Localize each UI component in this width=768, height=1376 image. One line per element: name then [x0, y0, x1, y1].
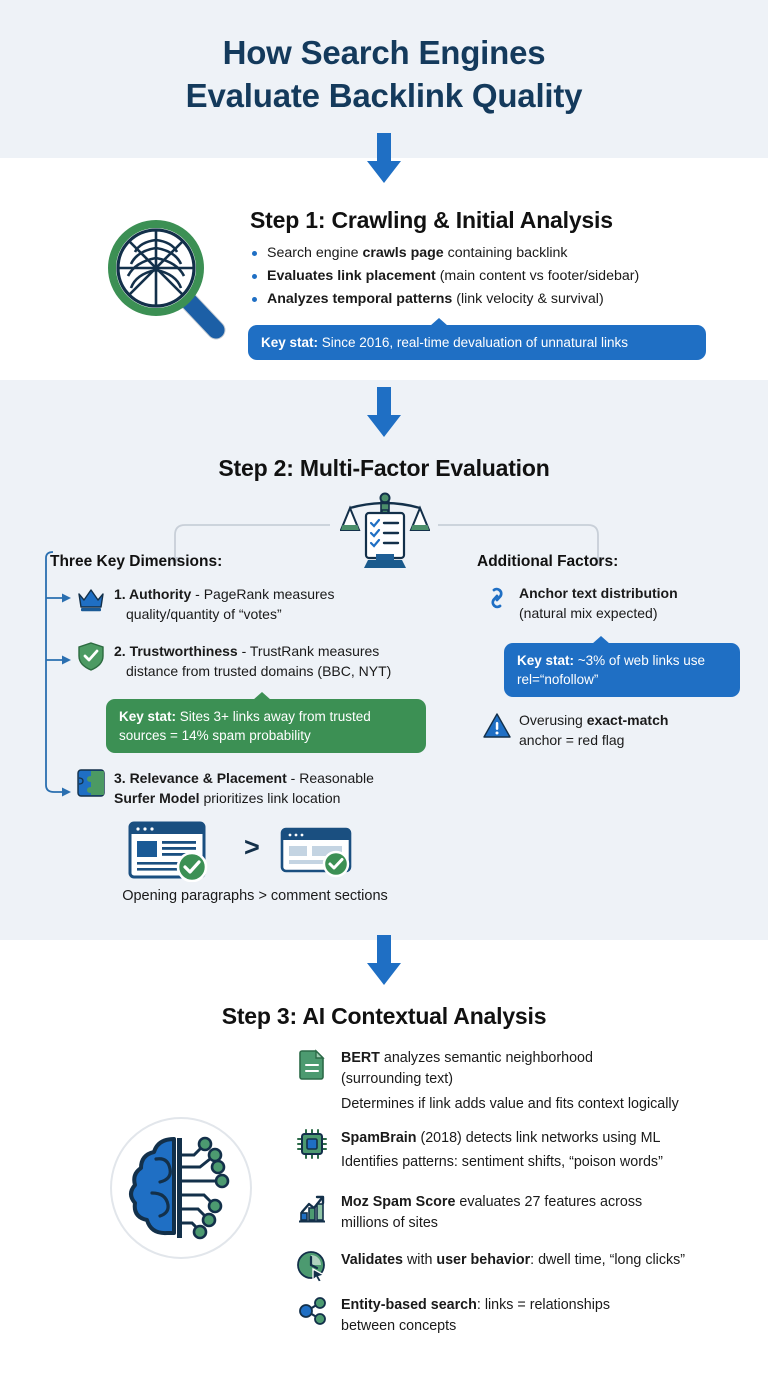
key-stat-label: Key stat: — [517, 653, 574, 668]
comparison-operator: > — [244, 832, 260, 863]
ai-term: BERT — [341, 1050, 380, 1066]
ai-term: Validates — [341, 1252, 403, 1268]
infographic-page: How Search Engines Evaluate Backlink Qua… — [0, 0, 768, 1376]
shield-check-icon — [76, 641, 106, 671]
ai-term: Entity-based search — [341, 1297, 477, 1313]
ai-text: Validates with user behavior: dwell time… — [296, 1250, 736, 1271]
ai-rest: (2018) detects link networks using ML — [416, 1130, 660, 1146]
key-stat-text: Since 2016, real-time devaluation of unn… — [318, 335, 628, 350]
dimension-line2-bold: Surfer Model — [114, 790, 200, 806]
ai-rest: analyzes semantic neighborhood — [380, 1050, 593, 1066]
ai-rest: : dwell time, “long clicks” — [530, 1252, 685, 1268]
dimension-item-trustworthiness: 2. Trustworthiness - TrustRank measures … — [68, 641, 418, 681]
step2-left-key-stat-callout: Key stat: Sites 3+ links away from trust… — [106, 699, 426, 753]
bullet-pre: Search engine — [267, 245, 362, 261]
key-stat-label: Key stat: — [261, 335, 318, 350]
flow-arrow-1 — [362, 133, 406, 183]
placement-comparison-graphic: > — [128, 820, 378, 882]
factor-item-anchor-text: Anchor text distribution (natural mix ex… — [477, 583, 747, 623]
dimension-text: 2. Trustworthiness - TrustRank measures … — [68, 641, 418, 681]
dimension-rest: - PageRank measures — [191, 586, 334, 602]
step1-heading: Step 1: Crawling & Initial Analysis — [250, 207, 613, 234]
ai-rest: evaluates 27 features across — [455, 1194, 642, 1210]
dimension-item-authority: 1. Authority - PageRank measures quality… — [68, 584, 398, 624]
ai-item-user-behavior: Validates with user behavior: dwell time… — [296, 1250, 736, 1271]
clock-cursor-icon — [296, 1250, 328, 1282]
ai-item-spambrain: SpamBrain (2018) detects link networks u… — [296, 1128, 736, 1173]
step1-key-stat-callout: Key stat: Since 2016, real-time devaluat… — [248, 325, 706, 360]
ai-text: BERT analyzes semantic neighborhood (sur… — [296, 1048, 736, 1090]
warning-triangle-icon — [483, 711, 511, 739]
puzzle-piece-icon — [76, 768, 106, 798]
factor-text: Overusing exact-match anchor = red flag — [477, 710, 747, 750]
dimension-line2: quality/quantity of “votes” — [114, 604, 282, 624]
browser-window-article-check-icon — [130, 823, 206, 881]
page-title: How Search Engines Evaluate Backlink Qua… — [0, 32, 768, 117]
factor-item-exact-match: Overusing exact-match anchor = red flag — [477, 710, 747, 750]
flow-arrow-3 — [362, 935, 406, 985]
dimension-title: 2. Trustworthiness — [114, 643, 238, 659]
key-stat-label: Key stat: — [119, 709, 176, 724]
dimension-line2-rest: prioritizes link location — [200, 790, 341, 806]
bullet-bold: Analyzes temporal patterns — [267, 291, 452, 307]
bullet-post: (link velocity & survival) — [452, 291, 603, 307]
ai-text: SpamBrain (2018) detects link networks u… — [296, 1128, 736, 1149]
ai-item-bert: BERT analyzes semantic neighborhood (sur… — [296, 1048, 736, 1115]
ai-text: Entity-based search: links = relationshi… — [296, 1295, 696, 1337]
right-column-heading: Additional Factors: — [477, 553, 618, 571]
ai-brain-circuit-icon — [108, 1115, 254, 1261]
crown-icon — [76, 584, 106, 614]
ai-mid: with — [403, 1252, 436, 1268]
flow-arrow-2 — [362, 387, 406, 437]
step2-right-key-stat-callout: Key stat: ~3% of web links use rel=“nofo… — [504, 643, 740, 697]
factor-line2: anchor = red flag — [519, 732, 624, 748]
ai-text: Moz Spam Score evaluates 27 features acr… — [296, 1192, 716, 1234]
entity-network-icon — [296, 1295, 328, 1327]
factor-pre: Overusing — [519, 712, 587, 728]
ai-line2: Identifies patterns: sentiment shifts, “… — [296, 1152, 736, 1173]
list-item: Search engine crawls page containing bac… — [250, 243, 720, 264]
ai-line3: Determines if link adds value and fits c… — [296, 1094, 736, 1115]
factor-text: Anchor text distribution (natural mix ex… — [477, 583, 747, 623]
ai-term: SpamBrain — [341, 1130, 416, 1146]
ai-term: Moz Spam Score — [341, 1194, 455, 1210]
step2-heading: Step 2: Multi-Factor Evaluation — [0, 455, 768, 482]
step1-bullet-list: Search engine crawls page containing bac… — [250, 243, 720, 312]
scales-clipboard-icon — [340, 492, 430, 572]
list-item: Evaluates link placement (main content v… — [250, 266, 720, 287]
ai-item-entity-based-search: Entity-based search: links = relationshi… — [296, 1295, 696, 1337]
bullet-bold: crawls page — [362, 245, 443, 261]
ai-rest: : links = relationships — [477, 1297, 610, 1313]
bar-chart-icon — [296, 1192, 328, 1224]
document-icon — [296, 1048, 328, 1080]
dimension-line2: distance from trusted domains (BBC, NYT) — [114, 661, 391, 681]
ai-line2: between concepts — [341, 1318, 456, 1334]
bullet-post: (main content vs footer/sidebar) — [436, 268, 639, 284]
page-title-line2: Evaluate Backlink Quality — [0, 75, 768, 118]
factor-title: exact-match — [587, 712, 669, 728]
factor-title: Anchor text distribution — [519, 585, 678, 601]
dimension-item-relevance: 3. Relevance & Placement - Reasonable Su… — [68, 768, 418, 808]
page-title-line1: How Search Engines — [0, 32, 768, 75]
step3-heading: Step 3: AI Contextual Analysis — [0, 1003, 768, 1030]
factor-line2: (natural mix expected) — [519, 605, 658, 621]
dimension-text: 3. Relevance & Placement - Reasonable Su… — [68, 768, 418, 808]
ai-line2: millions of sites — [341, 1215, 438, 1231]
ai-line2: (surrounding text) — [341, 1071, 453, 1087]
browser-window-comments-check-icon — [282, 829, 350, 876]
bullet-bold: Evaluates link placement — [267, 268, 436, 284]
left-column-heading: Three Key Dimensions: — [50, 553, 222, 571]
dimension-rest: - TrustRank measures — [238, 643, 380, 659]
chip-icon — [296, 1128, 328, 1160]
list-item: Analyzes temporal patterns (link velocit… — [250, 289, 720, 310]
dimension-title: 3. Relevance & Placement — [114, 770, 287, 786]
bullet-post: containing backlink — [444, 245, 568, 261]
dimension-rest: - Reasonable — [287, 770, 374, 786]
magnifying-glass-web-icon — [104, 218, 232, 340]
dimension-title: 1. Authority — [114, 586, 191, 602]
ai-item-moz-spam-score: Moz Spam Score evaluates 27 features acr… — [296, 1192, 716, 1234]
ai-term2: user behavior — [436, 1252, 530, 1268]
comparison-caption: Opening paragraphs > comment sections — [60, 888, 450, 904]
dimension-text: 1. Authority - PageRank measures quality… — [68, 584, 398, 624]
chain-link-icon — [483, 584, 511, 612]
